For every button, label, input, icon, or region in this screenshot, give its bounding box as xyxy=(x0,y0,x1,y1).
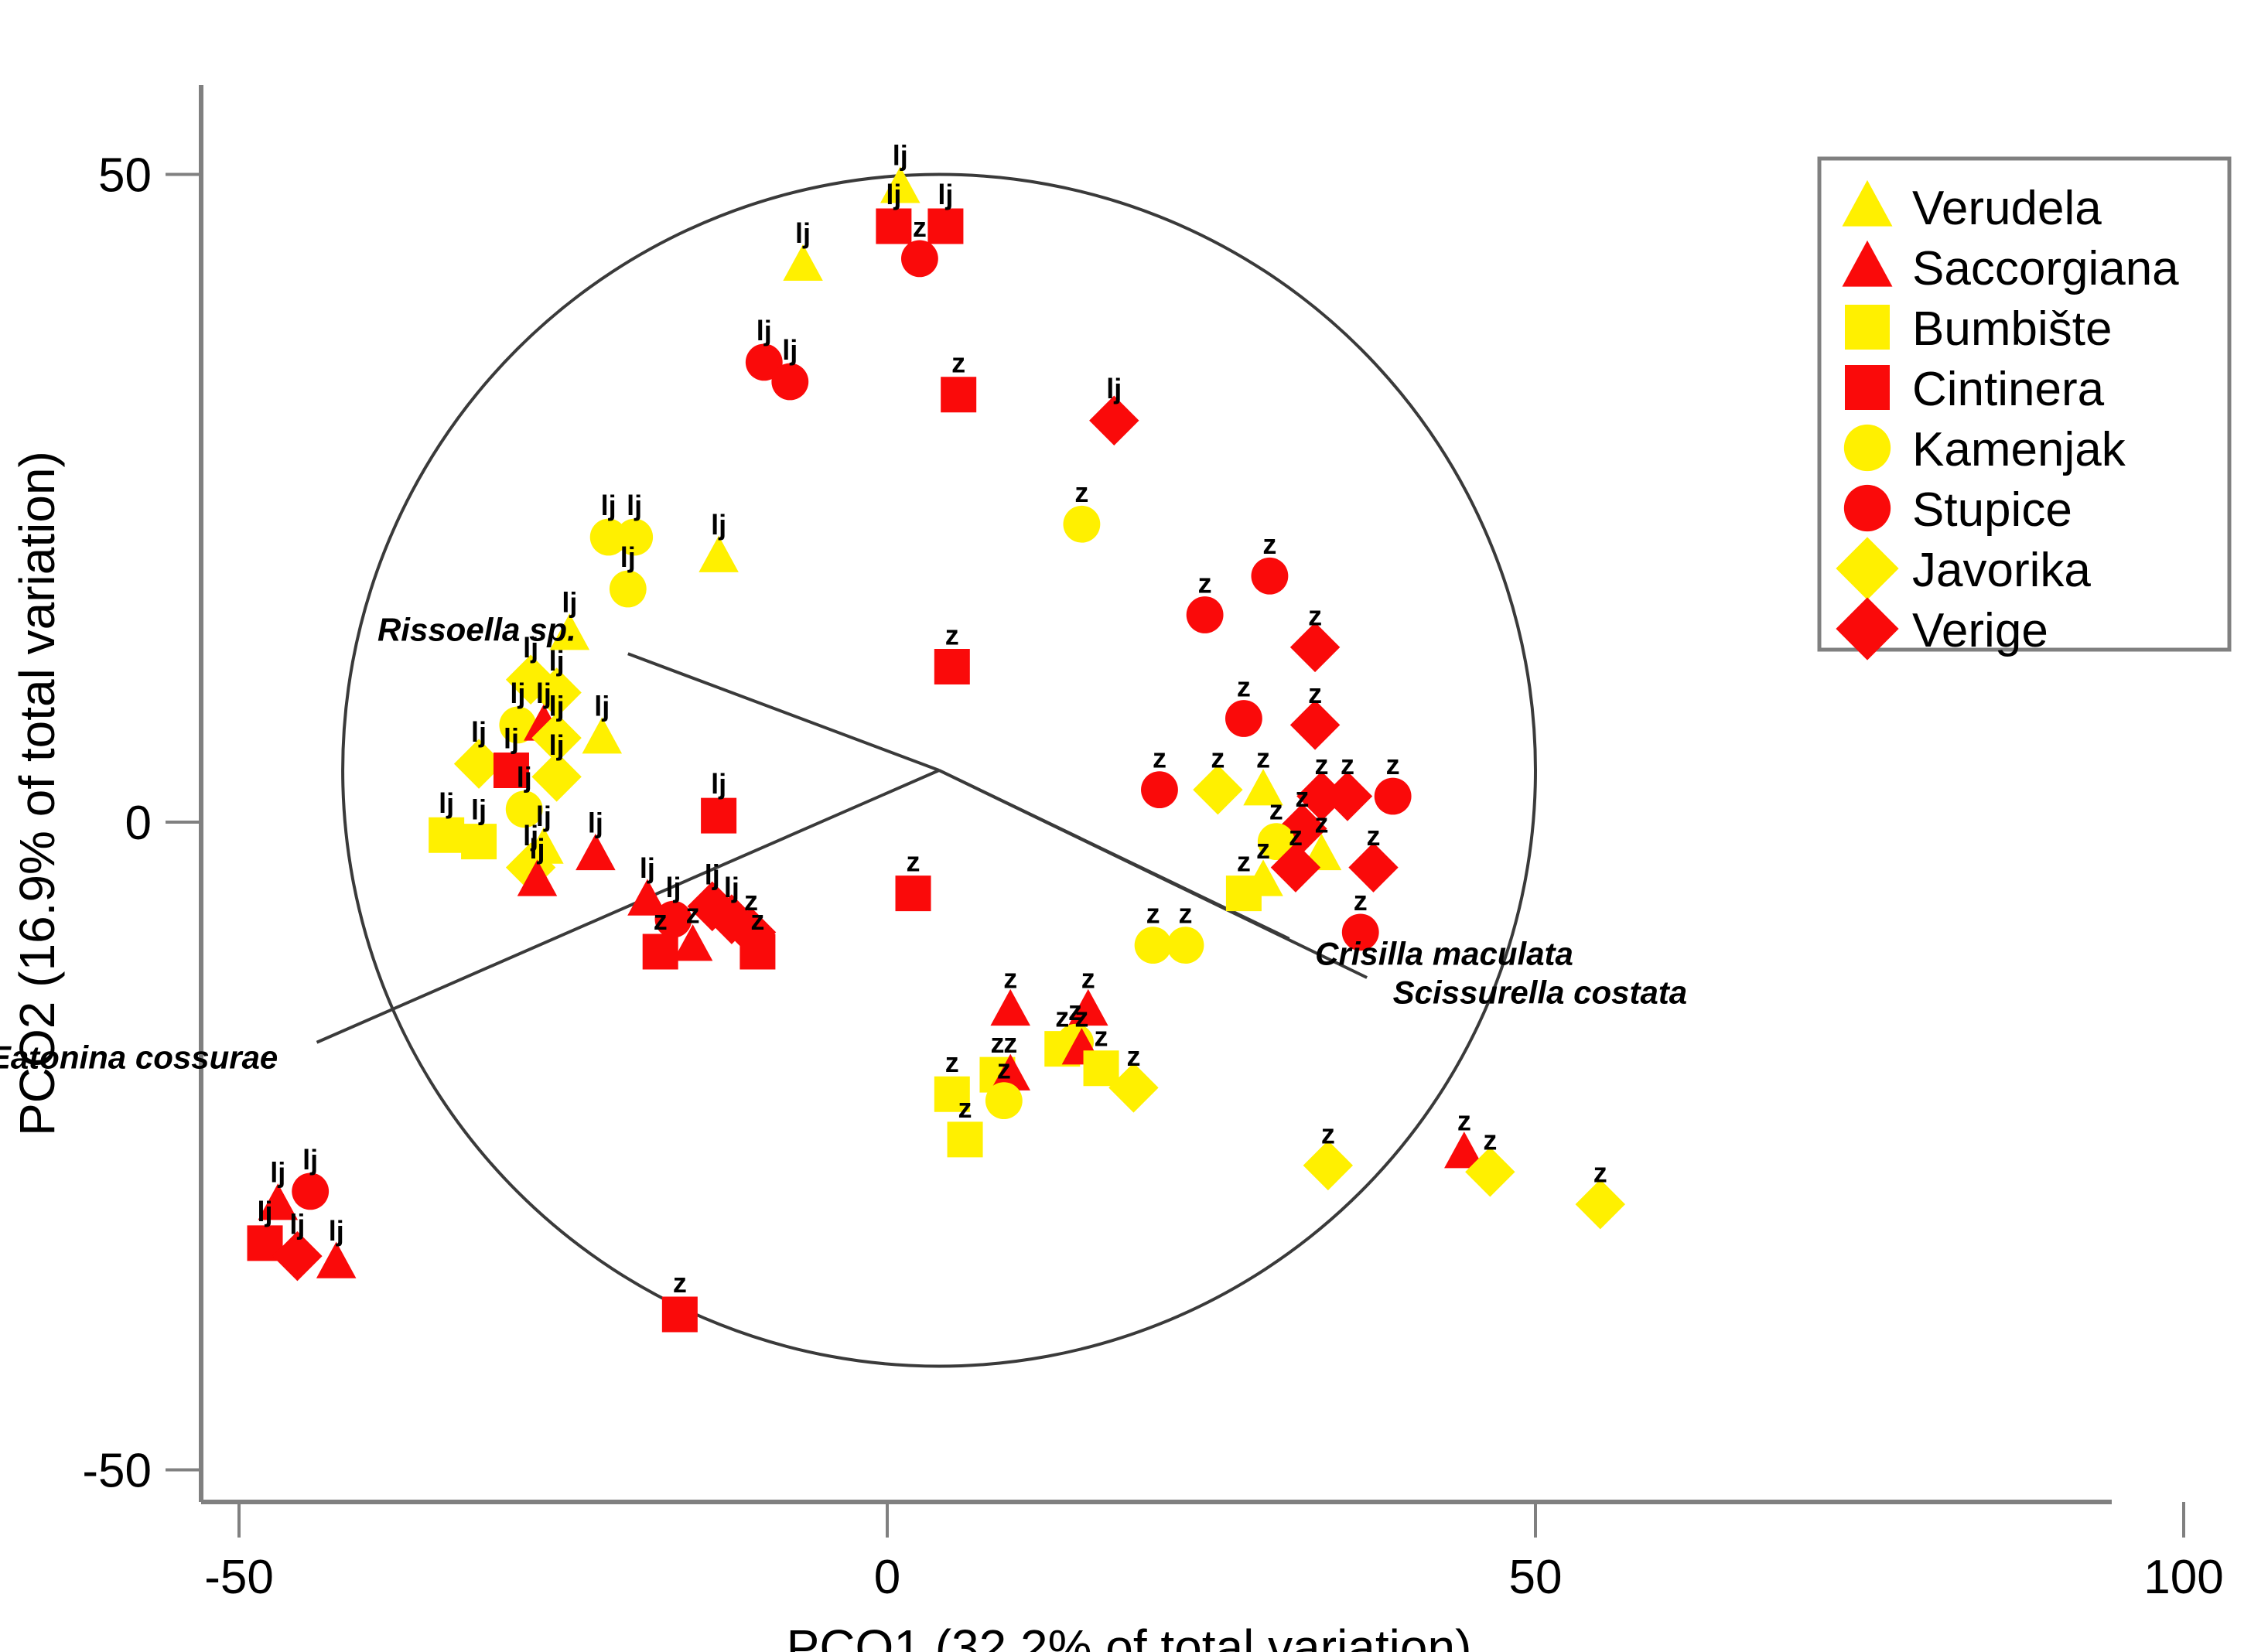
species-vector-label: Rissoella sp. xyxy=(377,612,576,648)
data-point-square xyxy=(701,798,736,834)
data-point-square xyxy=(662,1297,698,1333)
data-points xyxy=(248,166,1625,1332)
legend[interactable]: VerudelaSaccorgianaBumbišteCintineraKame… xyxy=(1819,159,2229,660)
y-axis-title: PCO2 (16.9% of total variation) xyxy=(9,451,65,1136)
point-label: z xyxy=(1237,671,1251,702)
point-label: lj xyxy=(549,691,565,722)
point-label: lj xyxy=(724,872,739,903)
point-label: lj xyxy=(782,334,798,366)
point-label: z xyxy=(1256,742,1270,774)
data-point-circle xyxy=(1225,700,1262,737)
point-label: z xyxy=(1354,885,1368,916)
point-label: z xyxy=(1074,1002,1088,1033)
legend-item-label: Verudela xyxy=(1912,182,2102,235)
legend-item-label: Cintinera xyxy=(1912,363,2105,416)
point-label: z xyxy=(1457,1105,1471,1137)
point-label: z xyxy=(1295,781,1309,813)
point-label: lj xyxy=(302,1144,318,1176)
species-vector-label: Crisilla maculata xyxy=(1315,935,1573,971)
point-label: z xyxy=(913,211,927,243)
point-label: lj xyxy=(711,768,726,800)
x-tick-label: -50 xyxy=(204,1551,274,1604)
point-label: z xyxy=(1262,528,1276,560)
vector-labels: Rissoella sp.Crisilla maculataScissurell… xyxy=(0,612,1687,1076)
point-label: lj xyxy=(504,722,519,754)
pco-ordination-figure: 500-50-50050100PCO1 (32.2% of total vari… xyxy=(0,0,2268,1652)
point-label: lj xyxy=(886,179,901,210)
data-point-circle xyxy=(1252,558,1289,595)
point-label: lj xyxy=(1106,373,1122,404)
point-label: z xyxy=(1153,742,1166,774)
x-axis-title: PCO1 (32.2% of total variation) xyxy=(787,1620,1472,1652)
legend-item-label: Kamenjak xyxy=(1912,423,2126,476)
data-point-square xyxy=(927,209,963,244)
point-label: lj xyxy=(594,691,610,722)
legend-item-bumbi-te[interactable]: Bumbište xyxy=(1845,302,2112,356)
point-label: z xyxy=(1593,1157,1607,1189)
legend-item-label: Stupice xyxy=(1912,483,2072,537)
species-vector-label: Eatonina cossurae xyxy=(0,1039,278,1075)
point-label: lj xyxy=(439,787,454,819)
data-point-square xyxy=(896,875,931,911)
point-label: z xyxy=(1126,1040,1140,1072)
point-label: z xyxy=(1081,962,1095,994)
point-label: z xyxy=(673,1267,687,1299)
point-label: lj xyxy=(471,716,487,748)
legend-marker-circle-icon xyxy=(1844,485,1891,531)
point-label: z xyxy=(1308,678,1322,709)
y-tick-label: -50 xyxy=(82,1445,152,1498)
data-point-circle xyxy=(771,364,808,401)
data-point-square xyxy=(941,377,976,412)
point-label: z xyxy=(1237,846,1251,878)
point-label: z xyxy=(1211,742,1225,774)
legend-item-label: Verige xyxy=(1912,604,2048,657)
legend-item-label: Javorika xyxy=(1912,544,2091,597)
data-point-circle xyxy=(1063,506,1100,543)
species-vector-line xyxy=(628,654,939,770)
species-vector-label: Scissurella costata xyxy=(1393,974,1688,1011)
point-label: z xyxy=(1289,820,1303,852)
legend-item-label: Bumbište xyxy=(1912,302,2112,356)
data-point-circle xyxy=(1135,927,1172,964)
point-label: z xyxy=(1074,476,1088,508)
data-point-triangle xyxy=(582,717,623,753)
point-label: z xyxy=(750,904,764,936)
point-label: lj xyxy=(258,1196,273,1227)
point-label: lj xyxy=(588,807,603,838)
species-vector-line xyxy=(317,770,939,1043)
legend-marker-circle-icon xyxy=(1844,425,1891,471)
scatter-plot-canvas: 500-50-50050100PCO1 (32.2% of total vari… xyxy=(0,0,2268,1652)
point-label: z xyxy=(1314,807,1328,838)
data-point-circle xyxy=(610,571,647,608)
point-label: z xyxy=(997,1053,1011,1085)
x-tick-label: 50 xyxy=(1509,1551,1563,1604)
point-label: lj xyxy=(893,140,908,172)
point-label: lj xyxy=(711,509,726,541)
point-label: z xyxy=(1095,1021,1108,1053)
legend-marker-square-icon xyxy=(1845,305,1890,350)
x-tick-label: 100 xyxy=(2143,1551,2223,1604)
point-label: z xyxy=(1256,833,1270,865)
data-point-square xyxy=(876,209,911,244)
point-label: lj xyxy=(549,645,565,677)
data-point-triangle xyxy=(990,989,1030,1026)
point-label: lj xyxy=(329,1215,344,1247)
point-label: z xyxy=(1308,599,1322,631)
point-label: lj xyxy=(938,179,953,210)
data-point-square xyxy=(739,934,775,970)
point-label: z xyxy=(1055,1002,1069,1033)
point-label: z xyxy=(1341,749,1354,780)
data-point-circle xyxy=(1375,778,1412,815)
y-tick-label: 0 xyxy=(125,797,152,850)
data-point-square xyxy=(934,649,970,684)
data-point-square xyxy=(643,934,678,970)
point-label: lj xyxy=(289,1209,305,1241)
point-label: lj xyxy=(517,762,532,794)
data-point-square xyxy=(429,817,464,853)
point-label: z xyxy=(1146,898,1160,930)
point-label: lj xyxy=(640,852,655,884)
point-label: z xyxy=(1386,749,1400,780)
point-label: z xyxy=(1269,794,1283,826)
point-label: lj xyxy=(270,1157,285,1189)
data-point-circle xyxy=(1141,771,1178,808)
x-tick-label: 0 xyxy=(874,1551,900,1604)
point-label: z xyxy=(951,347,965,379)
data-point-triangle xyxy=(316,1241,357,1278)
point-label: lj xyxy=(549,729,565,761)
point-label: lj xyxy=(601,490,617,521)
point-label: z xyxy=(1483,1125,1497,1156)
data-point-triangle xyxy=(699,536,739,572)
legend-item-cintinera[interactable]: Cintinera xyxy=(1845,363,2105,416)
point-label: lj xyxy=(471,794,487,826)
data-point-circle xyxy=(985,1082,1023,1119)
data-point-square xyxy=(1226,875,1262,911)
point-label: z xyxy=(1003,962,1017,994)
point-label: lj xyxy=(757,315,772,346)
point-label: z xyxy=(1178,898,1192,930)
data-point-circle xyxy=(1187,596,1224,633)
point-label: z xyxy=(654,904,668,936)
data-point-circle xyxy=(292,1172,329,1210)
point-label: z xyxy=(1198,567,1212,599)
point-label: z xyxy=(686,898,700,930)
legend-item-verige[interactable]: Verige xyxy=(1836,597,2048,660)
data-point-square xyxy=(948,1121,983,1157)
point-label: z xyxy=(945,1046,959,1078)
data-point-square xyxy=(461,824,497,859)
y-tick-label: 50 xyxy=(98,149,152,203)
point-label: z xyxy=(1321,1118,1335,1149)
data-point-triangle xyxy=(576,834,616,870)
point-label: z xyxy=(1367,820,1381,852)
data-point-circle xyxy=(901,240,938,277)
data-point-square xyxy=(1084,1050,1119,1086)
legend-item-javorika[interactable]: Javorika xyxy=(1836,537,2091,599)
point-label: z xyxy=(945,619,959,650)
point-label: lj xyxy=(620,541,636,573)
point-label: lj xyxy=(529,833,545,865)
point-label: z xyxy=(958,1092,972,1124)
legend-item-stupice[interactable]: Stupice xyxy=(1844,483,2072,537)
data-point-triangle xyxy=(783,244,823,281)
point-label: lj xyxy=(795,217,811,249)
legend-marker-square-icon xyxy=(1845,365,1890,410)
legend-item-label: Saccorgiana xyxy=(1912,242,2179,295)
point-label: z xyxy=(907,846,921,878)
point-label: lj xyxy=(705,858,720,890)
point-label: lj xyxy=(510,678,525,709)
data-point-circle xyxy=(1167,927,1204,964)
point-label: z xyxy=(1314,749,1328,780)
point-label: lj xyxy=(665,872,681,903)
point-label: lj xyxy=(627,490,642,521)
